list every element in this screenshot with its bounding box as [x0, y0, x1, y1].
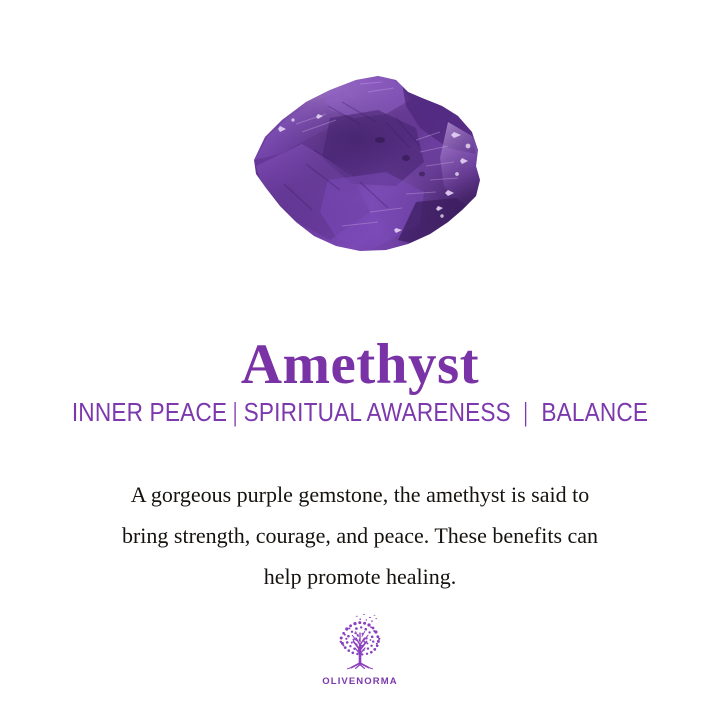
raw-amethyst-crystal-icon — [210, 62, 510, 262]
gemstone-image-container — [0, 62, 720, 277]
tree-icon — [329, 612, 391, 674]
keyword-separator: | — [515, 396, 537, 428]
amethyst-info-card: Amethyst INNER PEACE|SPIRITUAL AWARENESS… — [0, 0, 720, 720]
keyword-spiritual-awareness: SPIRITUAL AWARENESS — [244, 397, 511, 427]
page-title: Amethyst — [0, 334, 720, 396]
keyword-balance: BALANCE — [541, 397, 648, 427]
description-line: A gorgeous purple gemstone, the amethyst… — [50, 474, 670, 515]
keyword-separator: | — [229, 396, 241, 428]
description-paragraph: A gorgeous purple gemstone, the amethyst… — [50, 474, 670, 597]
keyword-inner-peace: INNER PEACE — [72, 397, 227, 427]
description-line: help promote healing. — [50, 556, 670, 597]
keyword-strip: INNER PEACE|SPIRITUAL AWARENESS|BALANCE — [47, 396, 673, 428]
brand-logo: OLIVENORMA — [0, 612, 720, 687]
description-line: bring strength, courage, and peace. Thes… — [50, 515, 670, 556]
brand-wordmark: OLIVENORMA — [0, 676, 720, 687]
